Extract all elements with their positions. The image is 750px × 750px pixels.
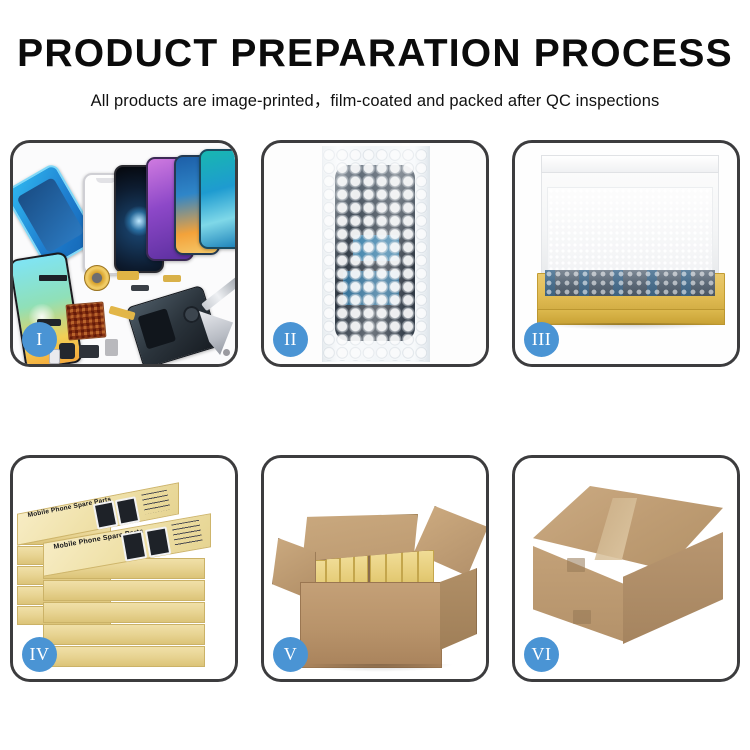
box-label-phone-image-front-2 (145, 526, 172, 557)
charging-port-part (163, 275, 181, 282)
step-badge-5: V (273, 637, 308, 672)
process-step-panel-3[interactable]: III (512, 140, 740, 367)
button-flex-part (131, 285, 149, 291)
step-badge-6: VI (524, 637, 559, 672)
teal-display-phone (199, 149, 235, 249)
process-step-panel-2[interactable]: II (261, 140, 489, 367)
white-foam-lining (547, 187, 713, 277)
carton-shadow (304, 664, 454, 672)
camera-module-part (59, 343, 75, 359)
process-step-panel-4[interactable]: Mobile Phone Spare Parts Mobile Phone Sp… (10, 455, 238, 682)
bubble-wrapped-contents (545, 270, 715, 296)
step-badge-1: I (22, 322, 57, 357)
process-step-panel-5[interactable]: V (261, 455, 489, 682)
box-shadow (541, 323, 719, 330)
process-step-panel-6[interactable]: VI (512, 455, 740, 682)
copper-shield-part (66, 301, 107, 340)
wireless-charging-coil (84, 265, 110, 291)
stacked-box-fr-5 (43, 646, 205, 667)
screw-part-b (223, 349, 230, 356)
step-badge-2: II (273, 322, 308, 357)
carton-marking-upper (567, 558, 585, 572)
stacked-box-fr-3 (43, 602, 205, 623)
box-lid-edge (541, 155, 719, 173)
vibration-motor-part (79, 345, 99, 358)
box-label-phone-image-front-1 (121, 530, 148, 561)
page-subtitle: All products are image-printed，film-coat… (0, 87, 750, 111)
process-step-panel-1[interactable]: I (10, 140, 238, 367)
sim-tray-part (105, 339, 118, 356)
stacked-box-fr-4 (43, 624, 205, 645)
earpiece-speaker-part (39, 275, 67, 281)
flex-cable-part (117, 271, 139, 280)
page-header: PRODUCT PREPARATION PROCESS All products… (0, 0, 750, 111)
carton-marking-lower (573, 610, 591, 624)
step-badge-3: III (524, 322, 559, 357)
plastic-sheen (322, 143, 428, 364)
page-title: PRODUCT PREPARATION PROCESS (0, 34, 750, 73)
step-badge-4: IV (22, 637, 57, 672)
carton-front-face (300, 582, 442, 668)
stacked-box-fr-2 (43, 580, 205, 601)
process-steps-grid: I II III (10, 140, 740, 685)
